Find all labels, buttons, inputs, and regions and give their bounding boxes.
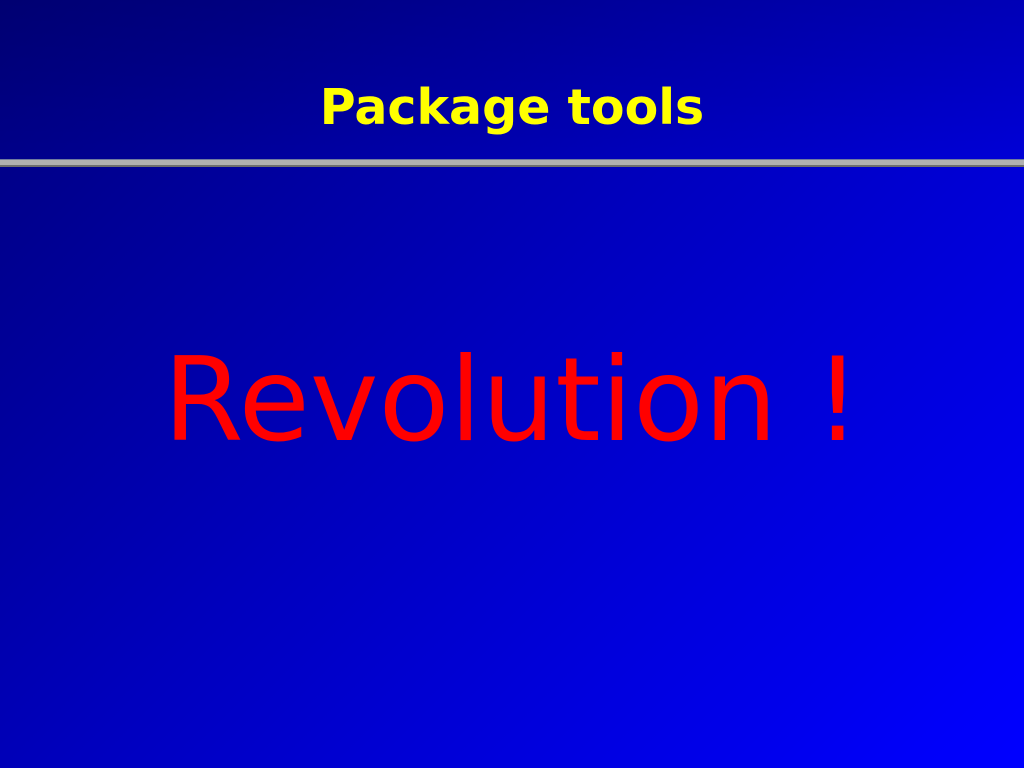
title-divider-rule <box>0 159 1024 168</box>
divider-shadow-band <box>0 165 1024 167</box>
slide-title: Package tools <box>0 78 1024 138</box>
slide-body: Revolution ! <box>0 168 1024 768</box>
slide-headline: Revolution ! <box>0 336 1024 466</box>
presentation-slide: Package tools Revolution ! <box>0 0 1024 768</box>
